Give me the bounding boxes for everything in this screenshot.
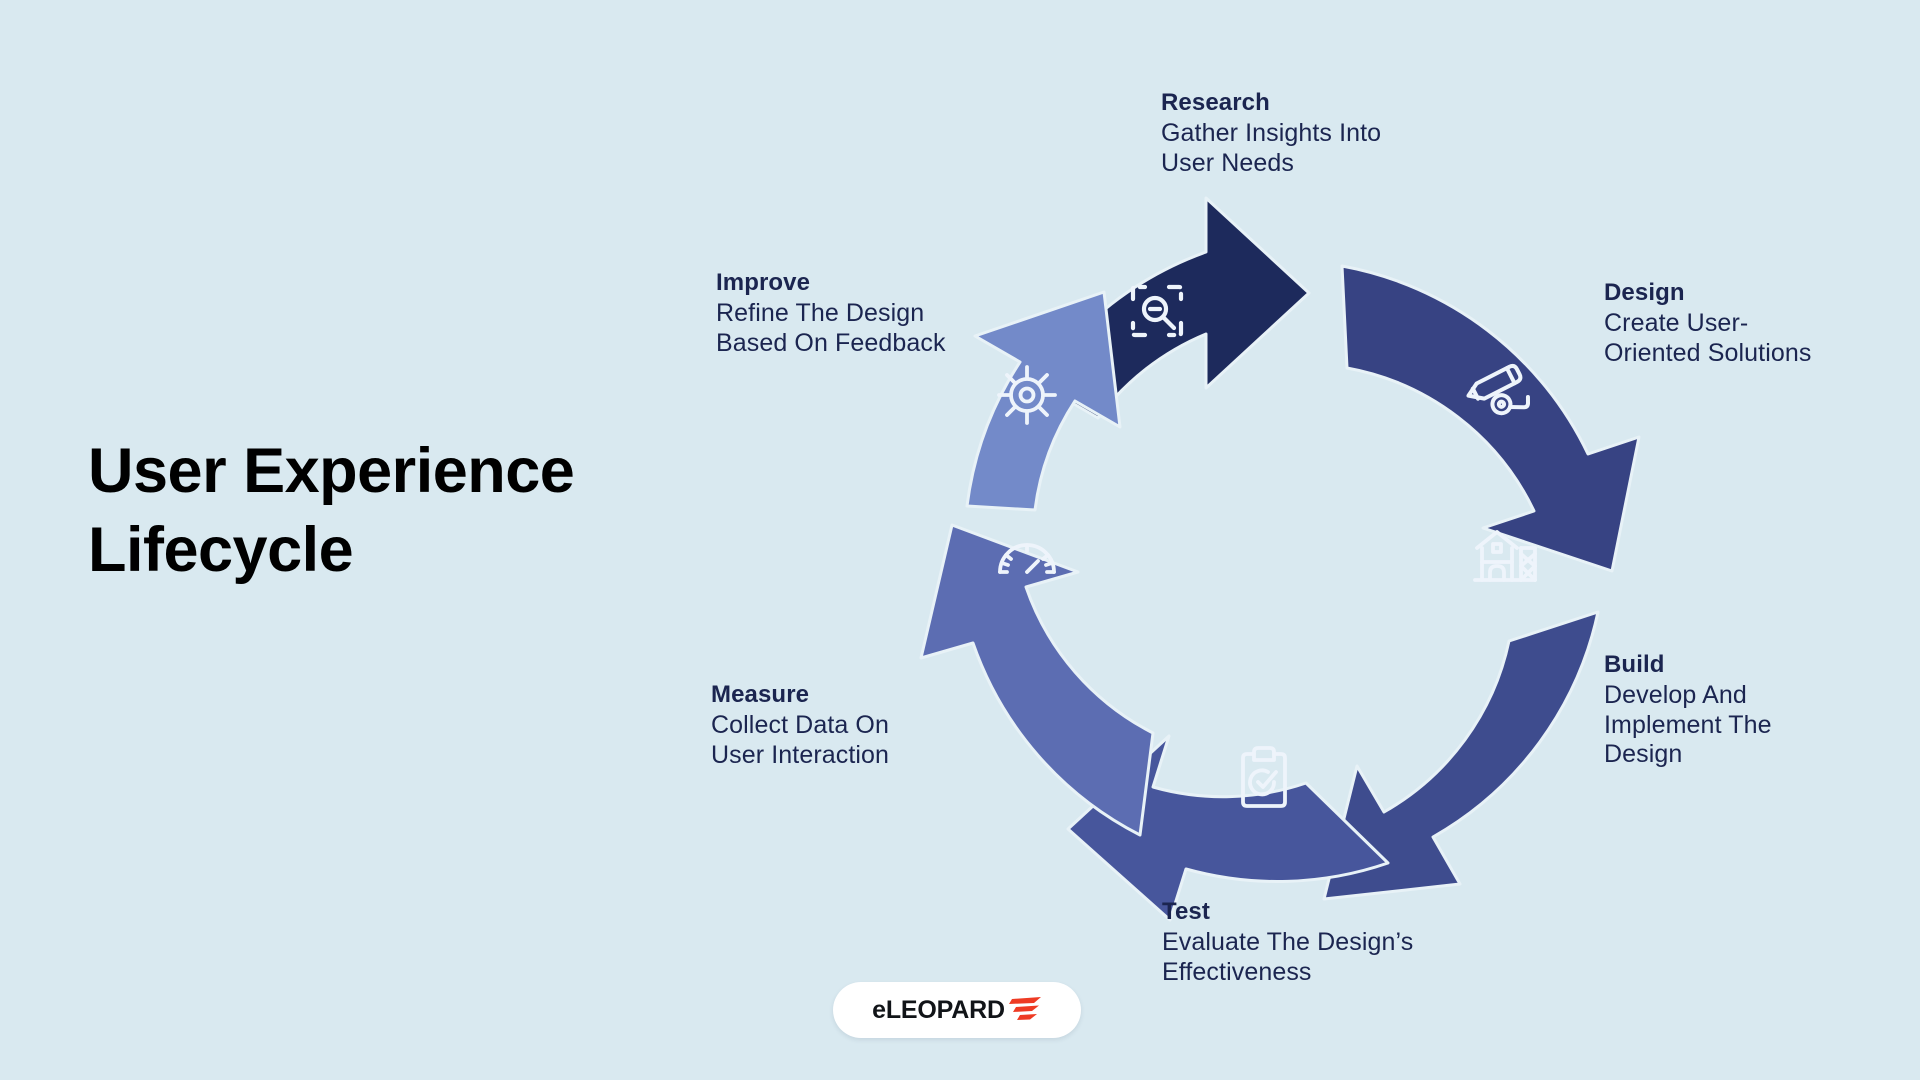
page-title-line1: User Experience (88, 432, 728, 511)
step-desc-research-line1: Gather Insights Into (1161, 119, 1481, 149)
page-title-line2: Lifecycle (88, 511, 728, 590)
step-desc-improve-line2: Based On Feedback (716, 329, 1016, 359)
wheel-segment-design[interactable] (1342, 266, 1639, 571)
step-label-research: Research Gather Insights Into User Needs (1161, 88, 1481, 178)
step-desc-design-line1: Create User- (1604, 309, 1904, 339)
step-desc-build: Develop And Implement The Design (1604, 681, 1884, 770)
step-desc-build-line1: Develop And (1604, 681, 1884, 711)
step-title-build: Build (1604, 650, 1884, 679)
step-title-design: Design (1604, 278, 1904, 307)
step-title-improve: Improve (716, 268, 1016, 297)
step-desc-improve-line1: Refine The Design (716, 299, 1016, 329)
step-label-build: Build Develop And Implement The Design (1604, 650, 1884, 770)
step-desc-build-line3: Design (1604, 740, 1884, 770)
brand-logo-main: LEOPARD (886, 996, 1005, 1024)
step-label-improve: Improve Refine The Design Based On Feedb… (716, 268, 1016, 358)
step-title-test: Test (1162, 897, 1502, 926)
lifecycle-wheel (905, 190, 1665, 930)
step-desc-design: Create User- Oriented Solutions (1604, 309, 1904, 368)
brand-logo-text: eLEOPARD (872, 998, 1005, 1023)
step-desc-improve: Refine The Design Based On Feedback (716, 299, 1016, 358)
step-title-research: Research (1161, 88, 1481, 117)
infographic-canvas: User Experience Lifecycle (0, 0, 1920, 1080)
step-desc-test: Evaluate The Design’s Effectiveness (1162, 928, 1502, 987)
step-desc-measure-line1: Collect Data On (711, 711, 1011, 741)
wheel-segment-design-shape (1342, 266, 1639, 571)
page-title: User Experience Lifecycle (88, 432, 728, 591)
brand-logo[interactable]: eLEOPARD (833, 982, 1081, 1038)
step-desc-test-line2: Effectiveness (1162, 958, 1502, 988)
brand-logo-prefix: e (872, 996, 886, 1024)
step-label-design: Design Create User- Oriented Solutions (1604, 278, 1904, 368)
speed-slashes-icon (1008, 996, 1042, 1024)
step-desc-build-line2: Implement The (1604, 711, 1884, 741)
step-label-test: Test Evaluate The Design’s Effectiveness (1162, 897, 1502, 987)
step-desc-research-line2: User Needs (1161, 149, 1481, 179)
step-title-measure: Measure (711, 680, 1011, 709)
step-label-measure: Measure Collect Data On User Interaction (711, 680, 1011, 770)
step-desc-measure: Collect Data On User Interaction (711, 711, 1011, 770)
step-desc-design-line2: Oriented Solutions (1604, 339, 1904, 369)
step-desc-research: Gather Insights Into User Needs (1161, 119, 1481, 178)
step-desc-test-line1: Evaluate The Design’s (1162, 928, 1502, 958)
step-desc-measure-line2: User Interaction (711, 741, 1011, 771)
